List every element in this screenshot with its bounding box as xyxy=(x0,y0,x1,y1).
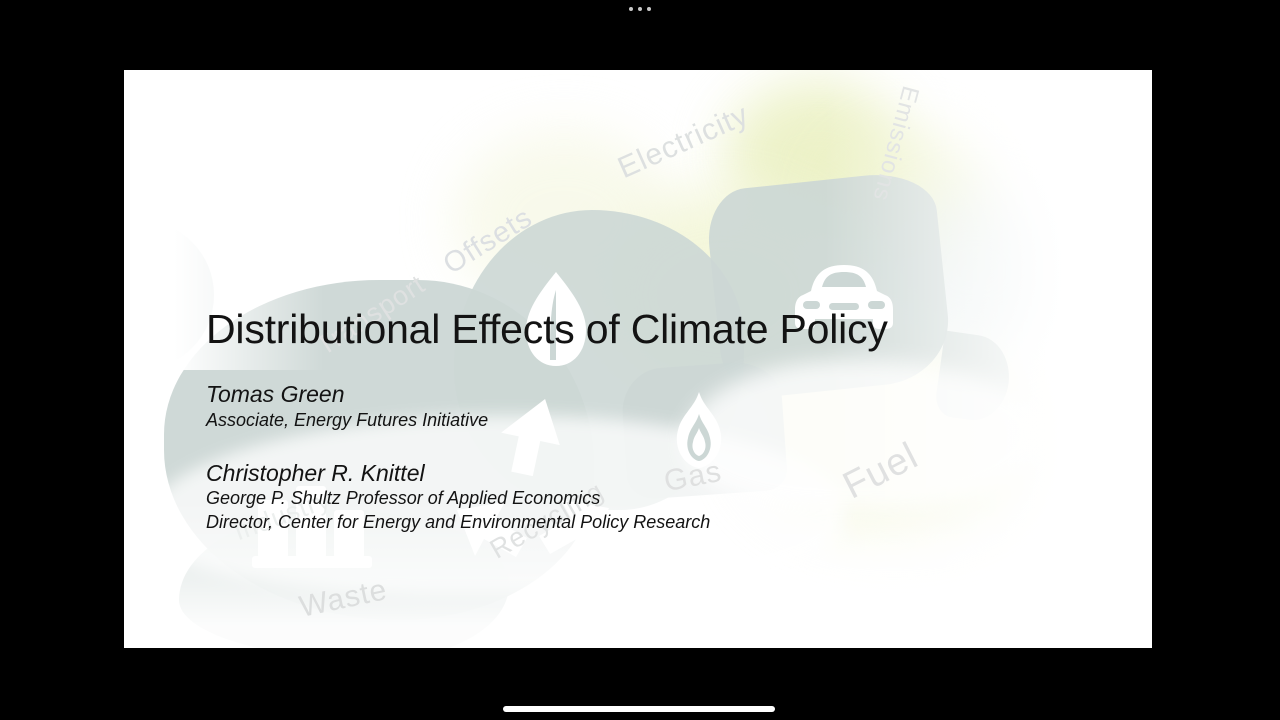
slide-title: Distributional Effects of Climate Policy xyxy=(206,306,888,353)
menu-dot-icon xyxy=(638,7,642,11)
progress-bar-track[interactable] xyxy=(503,706,775,712)
author-role-2b: Director, Center for Energy and Environm… xyxy=(206,512,710,533)
author-role-1: Associate, Energy Futures Initiative xyxy=(206,410,488,431)
menu-dots-indicator[interactable] xyxy=(0,7,1280,11)
green-wash-blob xyxy=(454,130,674,310)
watermark-offsets: Offsets xyxy=(438,201,539,281)
presentation-viewer: Electricity Offsets Transport Emissions … xyxy=(0,0,1280,720)
author-name-1: Tomas Green xyxy=(206,381,345,408)
author-name-2: Christopher R. Knittel xyxy=(206,460,425,487)
menu-dot-icon xyxy=(629,7,633,11)
slide-canvas[interactable]: Electricity Offsets Transport Emissions … xyxy=(124,70,1152,648)
menu-dot-icon xyxy=(647,7,651,11)
progress-bar-fill xyxy=(503,706,775,712)
author-role-2a: George P. Shultz Professor of Applied Ec… xyxy=(206,488,600,509)
watermark-electricity: Electricity xyxy=(613,98,754,186)
